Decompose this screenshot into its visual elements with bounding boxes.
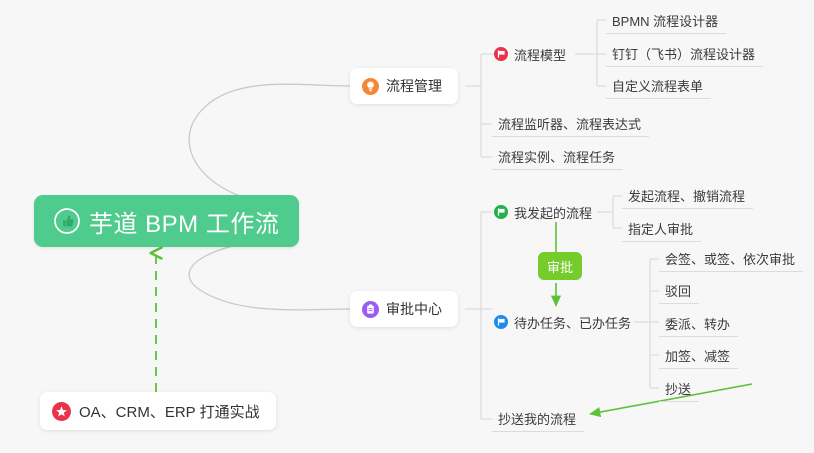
node-reject[interactable]: 驳回 bbox=[659, 278, 699, 304]
wire-root-to-approval-center bbox=[189, 238, 350, 310]
node-assignee-approval[interactable]: 指定人审批 bbox=[622, 216, 701, 242]
node-label: 待办任务、已办任务 bbox=[514, 313, 631, 332]
node-instance-task[interactable]: 流程实例、流程任务 bbox=[492, 144, 623, 170]
thumbs-up-icon bbox=[54, 208, 80, 234]
approval-badge[interactable]: 审批 bbox=[538, 252, 582, 280]
wire-ac-trunk bbox=[465, 212, 492, 419]
node-label: 流程模型 bbox=[514, 45, 566, 64]
flag-icon-green bbox=[494, 205, 508, 219]
node-delegate-transfer[interactable]: 委派、转办 bbox=[659, 311, 738, 337]
node-label: BPMN 流程设计器 bbox=[612, 11, 718, 30]
node-label: 我发起的流程 bbox=[514, 203, 592, 222]
node-label: 抄送 bbox=[665, 379, 691, 398]
node-process-model[interactable]: 流程模型 bbox=[492, 41, 574, 67]
wire-root-to-process-management bbox=[189, 84, 350, 205]
badge-label: 审批 bbox=[547, 257, 573, 276]
node-bpmn-designer[interactable]: BPMN 流程设计器 bbox=[606, 8, 726, 34]
star-icon bbox=[52, 402, 71, 421]
root-node[interactable]: 芋道 BPM 工作流 bbox=[34, 195, 299, 247]
branch-label: 审批中心 bbox=[386, 299, 442, 319]
wire-pm-trunk bbox=[465, 54, 481, 157]
wire-initiated-trunk bbox=[597, 196, 622, 228]
node-label: 委派、转办 bbox=[665, 314, 730, 333]
node-label: 流程实例、流程任务 bbox=[498, 147, 615, 166]
integration-callout[interactable]: OA、CRM、ERP 打通实战 bbox=[40, 392, 276, 430]
node-add-remove-sign[interactable]: 加签、减签 bbox=[659, 343, 738, 369]
node-label: 驳回 bbox=[665, 281, 691, 300]
node-listener-expression[interactable]: 流程监听器、流程表达式 bbox=[492, 111, 649, 137]
clipboard-icon bbox=[362, 301, 379, 318]
node-label: 自定义流程表单 bbox=[612, 76, 703, 95]
node-cc[interactable]: 抄送 bbox=[659, 376, 699, 402]
node-my-initiated[interactable]: 我发起的流程 bbox=[492, 199, 600, 225]
flag-icon-red bbox=[494, 47, 508, 61]
node-cc-to-me[interactable]: 抄送我的流程 bbox=[492, 406, 584, 432]
wire-model-trunk bbox=[575, 20, 606, 86]
node-todo-done[interactable]: 待办任务、已办任务 bbox=[492, 309, 639, 335]
node-label: 抄送我的流程 bbox=[498, 409, 576, 428]
mindmap-canvas: 芋道 BPM 工作流 流程管理 流程模型 BPMN 流程设计器 钉钉（飞书）流程 bbox=[0, 0, 814, 453]
branch-process-management[interactable]: 流程管理 bbox=[350, 68, 458, 104]
node-label: 发起流程、撤销流程 bbox=[628, 186, 745, 205]
lightbulb-icon bbox=[362, 78, 379, 95]
node-label: 流程监听器、流程表达式 bbox=[498, 114, 641, 133]
node-label: 会签、或签、依次审批 bbox=[665, 249, 795, 268]
node-start-cancel[interactable]: 发起流程、撤销流程 bbox=[622, 183, 753, 209]
callout-label: OA、CRM、ERP 打通实战 bbox=[79, 401, 260, 422]
branch-approval-center[interactable]: 审批中心 bbox=[350, 291, 458, 327]
root-label: 芋道 BPM 工作流 bbox=[89, 204, 279, 239]
node-label: 钉钉（飞书）流程设计器 bbox=[612, 44, 755, 63]
node-countersign[interactable]: 会签、或签、依次审批 bbox=[659, 246, 803, 272]
node-label: 加签、减签 bbox=[665, 346, 730, 365]
node-label: 指定人审批 bbox=[628, 219, 693, 238]
node-dingtalk-feishu-designer[interactable]: 钉钉（飞书）流程设计器 bbox=[606, 41, 763, 67]
branch-label: 流程管理 bbox=[386, 76, 442, 96]
flag-icon-blue bbox=[494, 315, 508, 329]
node-custom-process-form[interactable]: 自定义流程表单 bbox=[606, 73, 711, 99]
